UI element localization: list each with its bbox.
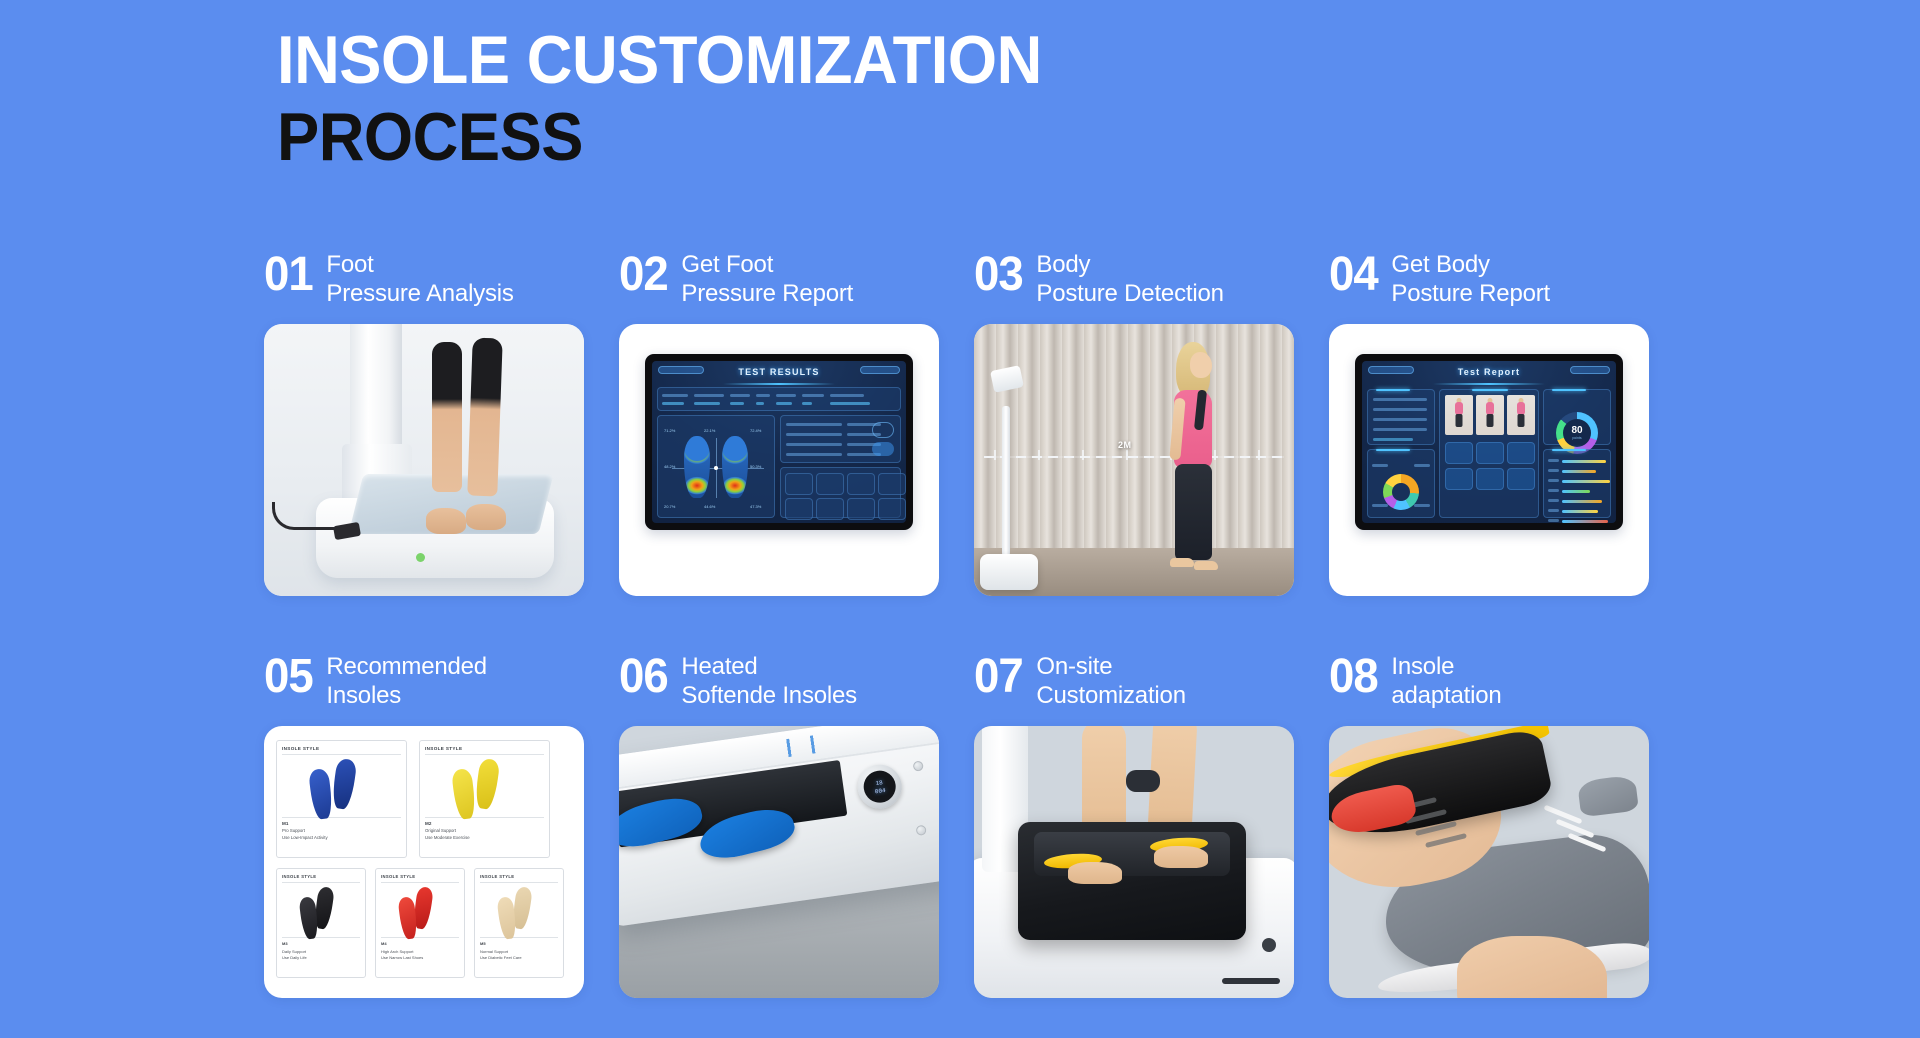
pressure-percent: 22.1% bbox=[704, 428, 715, 433]
insole-style-header: INSOLE STYLE bbox=[480, 874, 558, 883]
step-header: 06 Heated Softende Insoles bbox=[619, 650, 949, 714]
step-header: 04 Get Body Posture Report bbox=[1329, 248, 1659, 312]
step-label-line-2: Posture Detection bbox=[1036, 279, 1223, 308]
insole-style-card[interactable]: INSOLE STYLE M2 Original Support Use Mod… bbox=[419, 740, 550, 858]
insole-style-row-bottom: INSOLE STYLE M3 Daily Support Use Daily … bbox=[276, 868, 572, 978]
step-number: 01 bbox=[264, 248, 313, 302]
step-label-line-2: Pressure Analysis bbox=[326, 279, 513, 308]
insole-adaptation-photo bbox=[1329, 726, 1649, 998]
page-title-line-1: INSOLE CUSTOMIZATION bbox=[277, 28, 1207, 93]
step-label: Heated Softende Insoles bbox=[681, 650, 857, 710]
step-image-card[interactable]: TEST RESULTS bbox=[619, 324, 939, 596]
step-label-line-1: Get Body bbox=[1391, 250, 1550, 279]
step-image-card[interactable]: 18 004 bbox=[619, 726, 939, 998]
step-number: 03 bbox=[974, 248, 1023, 302]
overall-score-unit: points bbox=[1572, 436, 1581, 440]
insole-use: Use Daily Life bbox=[282, 955, 360, 961]
insole-model: M2 bbox=[425, 821, 544, 826]
step-image-card[interactable] bbox=[1329, 726, 1649, 998]
insole-model: M5 bbox=[480, 941, 558, 947]
step-label-line-1: Body bbox=[1036, 250, 1223, 279]
distance-guide-line bbox=[984, 456, 1284, 458]
step-label: Foot Pressure Analysis bbox=[326, 248, 513, 308]
step-label-line-2: Customization bbox=[1036, 681, 1185, 710]
insole-model: M3 bbox=[282, 941, 360, 947]
process-step-08: 08 Insole adaptation bbox=[1329, 650, 1659, 998]
tablet-device: TEST RESULTS bbox=[645, 354, 913, 530]
patient-info-panel bbox=[657, 387, 901, 411]
insole-use: Use Moderate Exercise bbox=[425, 835, 544, 842]
step-label: Get Body Posture Report bbox=[1391, 248, 1550, 308]
step-header: 01 Foot Pressure Analysis bbox=[264, 248, 594, 312]
pressure-percent: 47.3% bbox=[750, 504, 761, 509]
insole-illustration bbox=[480, 885, 558, 935]
insole-style-header: INSOLE STYLE bbox=[425, 746, 544, 755]
step-number: 07 bbox=[974, 650, 1023, 704]
step-label-line-1: Get Foot bbox=[681, 250, 853, 279]
step-image-card[interactable] bbox=[264, 324, 584, 596]
pressure-percent: 72.4% bbox=[750, 428, 761, 433]
step-header: 07 On-site Customization bbox=[974, 650, 1304, 714]
lock-icon bbox=[1262, 938, 1276, 952]
step-image-card[interactable] bbox=[974, 726, 1294, 998]
on-site-molding-photo bbox=[974, 726, 1294, 998]
tablet-device: Test Report bbox=[1355, 354, 1623, 530]
insole-model: M1 bbox=[282, 821, 401, 826]
posture-detection-photo: 2M bbox=[974, 324, 1294, 596]
screen-right-pill bbox=[860, 366, 900, 374]
insole-illustration bbox=[282, 885, 360, 935]
insole-style-header: INSOLE STYLE bbox=[282, 874, 360, 883]
right-foot-heatmap bbox=[722, 436, 748, 498]
foot-scanner-photo bbox=[264, 324, 584, 596]
step-label-line-2: Softende Insoles bbox=[681, 681, 857, 710]
step-label-line-1: Insole bbox=[1391, 652, 1501, 681]
step-header: 05 Recommended Insoles bbox=[264, 650, 594, 714]
step-number: 04 bbox=[1329, 248, 1378, 302]
screw-icon bbox=[916, 825, 927, 836]
step-image-card[interactable]: INSOLE STYLE M1 Pro Support Use Low-Impa… bbox=[264, 726, 584, 998]
step-label: Insole adaptation bbox=[1391, 650, 1501, 710]
step-image-card[interactable]: 2M bbox=[974, 324, 1294, 596]
step-header: 02 Get Foot Pressure Report bbox=[619, 248, 949, 312]
distance-marker-label: 2M bbox=[1118, 440, 1132, 450]
step-label-line-1: Foot bbox=[326, 250, 513, 279]
overall-score-value: 80 bbox=[1571, 426, 1582, 436]
process-step-07: 07 On-site Customization bbox=[974, 650, 1304, 998]
test-report-screen: Test Report bbox=[1362, 361, 1616, 523]
overall-score-gauge: 80 points bbox=[1556, 412, 1598, 454]
test-results-screen: TEST RESULTS bbox=[652, 361, 906, 523]
step-label: Body Posture Detection bbox=[1036, 248, 1223, 308]
overall-ratings-panel: 80 points bbox=[1543, 389, 1611, 445]
metrics-panel bbox=[780, 415, 901, 463]
power-led-icon bbox=[416, 553, 425, 562]
person-figure bbox=[1160, 342, 1236, 578]
insole-use: Use Narrow Last Shoes bbox=[381, 955, 459, 961]
step-label: On-site Customization bbox=[1036, 650, 1185, 710]
insole-style-card[interactable]: INSOLE STYLE M1 Pro Support Use Low-Impa… bbox=[276, 740, 407, 858]
pressure-percent: 71.2% bbox=[664, 428, 675, 433]
screen-right-pill bbox=[1570, 366, 1610, 374]
step-label-line-2: Pressure Report bbox=[681, 279, 853, 308]
process-step-01: 01 Foot Pressure Analysis bbox=[264, 248, 594, 596]
process-step-04: 04 Get Body Posture Report Test Report bbox=[1329, 248, 1659, 596]
heating-machine-photo: 18 004 bbox=[619, 726, 939, 998]
screen-left-pill bbox=[1368, 366, 1414, 374]
step-label: Get Foot Pressure Report bbox=[681, 248, 853, 308]
insole-illustration bbox=[282, 757, 401, 815]
step-number: 05 bbox=[264, 650, 313, 704]
insole-style-card[interactable]: INSOLE STYLE M5 Normal Support Use Diabe… bbox=[474, 868, 564, 978]
pressure-percent: 48.2% bbox=[664, 464, 675, 469]
process-step-05: 05 Recommended Insoles INSOLE STYLE M1 P… bbox=[264, 650, 594, 998]
pressure-percent: 50.3% bbox=[750, 464, 761, 469]
insole-illustration bbox=[425, 757, 544, 815]
pressure-percent: 20.7% bbox=[664, 504, 675, 509]
screen-left-pill bbox=[658, 366, 704, 374]
screen-title-underline bbox=[1433, 383, 1545, 385]
step-label-line-1: Heated bbox=[681, 652, 857, 681]
foot-pressure-heatmap-panel: 71.2% 22.1% 72.4% 48.2% 50.3% 20.7% 44.6… bbox=[657, 415, 775, 518]
step-label-line-2: adaptation bbox=[1391, 681, 1501, 710]
dial-reading-line-2: 004 bbox=[874, 786, 886, 794]
step-label-line-2: Posture Report bbox=[1391, 279, 1550, 308]
posture-photo bbox=[1507, 395, 1535, 435]
page-header: INSOLE CUSTOMIZATION PROCESS bbox=[277, 28, 1277, 169]
posture-analysis-panel bbox=[1367, 449, 1435, 518]
pressure-percent: 44.6% bbox=[704, 504, 715, 509]
insole-model: M4 bbox=[381, 941, 459, 947]
process-step-03: 03 Body Posture Detection 2M bbox=[974, 248, 1304, 596]
step-header: 03 Body Posture Detection bbox=[974, 248, 1304, 312]
insole-style-card[interactable]: INSOLE STYLE M3 Daily Support Use Daily … bbox=[276, 868, 366, 978]
personal-information-panel bbox=[1367, 389, 1435, 445]
step-image-card[interactable]: Test Report bbox=[1329, 324, 1649, 596]
insole-illustration bbox=[381, 885, 459, 935]
screw-icon bbox=[913, 760, 924, 771]
step-number: 08 bbox=[1329, 650, 1378, 704]
insole-style-row-top: INSOLE STYLE M1 Pro Support Use Low-Impa… bbox=[276, 740, 572, 858]
process-step-06: 06 Heated Softende Insoles 18 bbox=[619, 650, 949, 998]
posture-photo bbox=[1445, 395, 1473, 435]
posture-photo bbox=[1476, 395, 1504, 435]
step-label-line-2: Insoles bbox=[326, 681, 487, 710]
screen-title-underline bbox=[723, 383, 835, 385]
posture-photos-panel bbox=[1439, 389, 1539, 518]
risk-forecast-panel bbox=[1543, 449, 1611, 518]
page-title-line-2: PROCESS bbox=[277, 105, 1207, 170]
step-label-line-1: On-site bbox=[1036, 652, 1185, 681]
insole-use: Use Diabetic Feet Care bbox=[480, 955, 558, 961]
molding-tray bbox=[1018, 822, 1246, 940]
left-foot-heatmap bbox=[684, 436, 710, 498]
step-number: 02 bbox=[619, 248, 668, 302]
process-step-grid: 01 Foot Pressure Analysis bbox=[264, 248, 1684, 998]
insole-style-header: INSOLE STYLE bbox=[381, 874, 459, 883]
temperature-dial[interactable]: 18 004 bbox=[855, 762, 905, 812]
dial-reading-line-1: 18 bbox=[875, 779, 883, 787]
step-number: 06 bbox=[619, 650, 668, 704]
step-label: Recommended Insoles bbox=[326, 650, 487, 710]
step-label-line-1: Recommended bbox=[326, 652, 487, 681]
detail-cards-panel bbox=[780, 467, 901, 518]
insole-use: Use Low-Impact Activity bbox=[282, 835, 401, 842]
insole-style-card[interactable]: INSOLE STYLE M4 High Arch Support Use Na… bbox=[375, 868, 465, 978]
insole-style-header: INSOLE STYLE bbox=[282, 746, 401, 755]
process-step-02: 02 Get Foot Pressure Report TEST RESULTS bbox=[619, 248, 949, 596]
step-header: 08 Insole adaptation bbox=[1329, 650, 1659, 714]
